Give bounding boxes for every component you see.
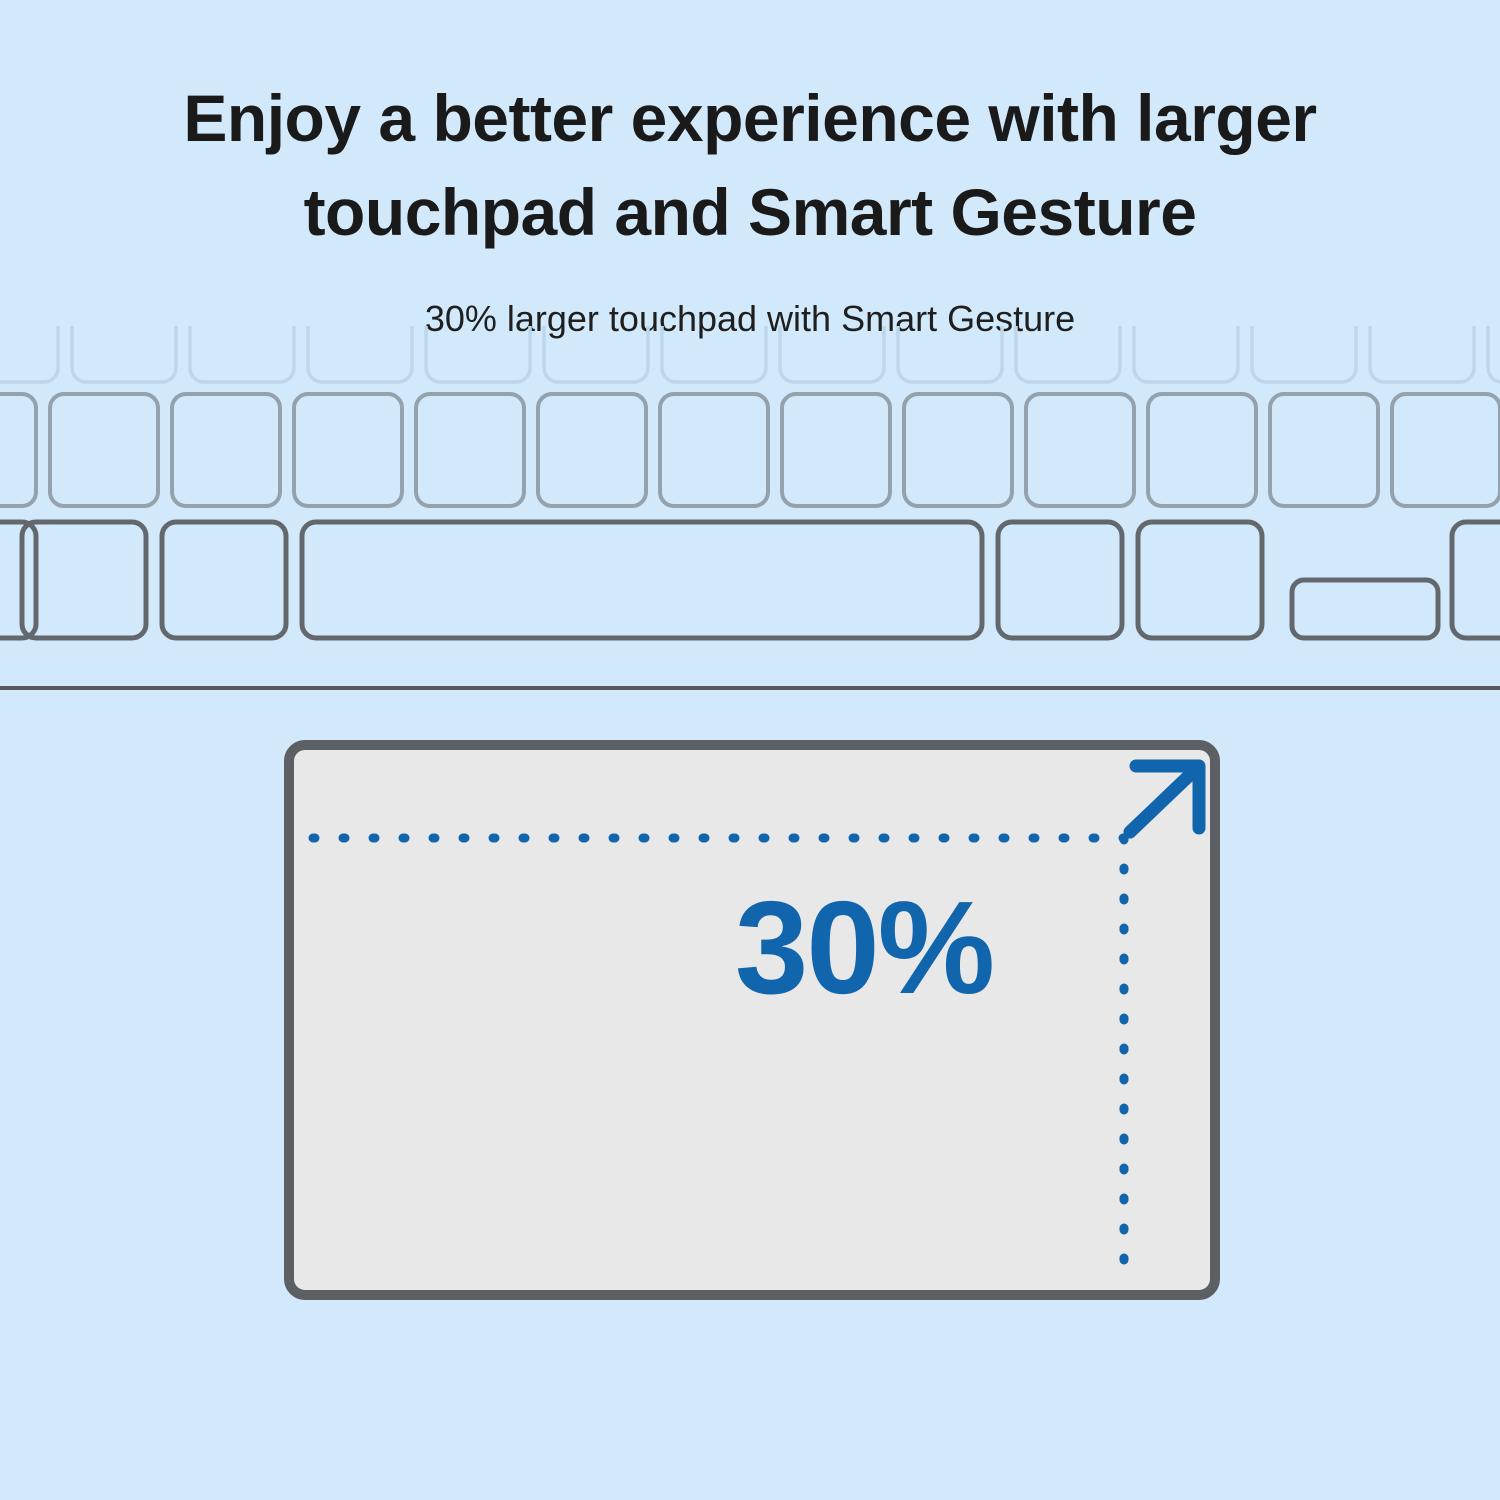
keyboard-row-bottom-keys	[0, 522, 1500, 638]
keyboard-illustration	[0, 326, 1500, 666]
keyboard-touchpad-divider	[0, 686, 1500, 690]
page-title: Enjoy a better experience with larger to…	[60, 72, 1440, 259]
up-arrow-key	[1292, 580, 1438, 638]
spacebar-key	[302, 522, 982, 638]
keyboard-row-top	[0, 326, 1500, 382]
touchpad-surface	[289, 745, 1215, 1295]
infographic-canvas: Enjoy a better experience with larger to…	[0, 0, 1500, 1500]
keyboard-row-middle	[0, 394, 1500, 506]
touchpad-diagram: 30%	[284, 740, 1220, 1300]
